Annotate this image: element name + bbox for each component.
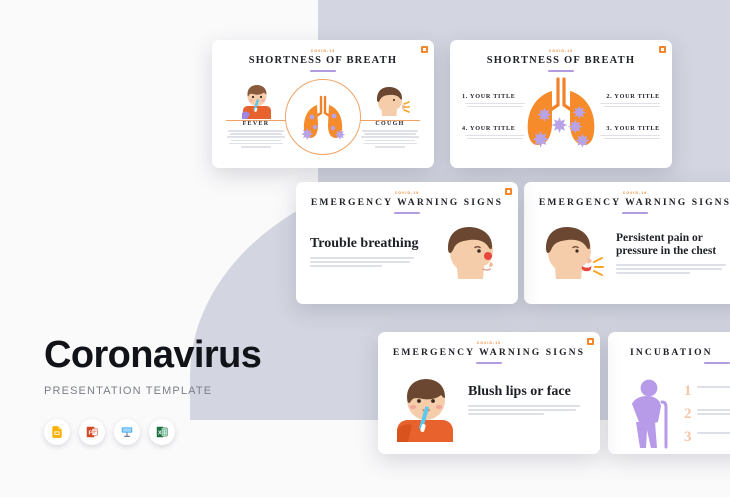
heading-underline [704,362,730,364]
point-3-body-text: Symptoms such as a cough, fever, and in … [660,141,661,142]
head-profile-coughing-illustration [538,224,604,291]
child-with-thermometer-illustration [392,376,464,447]
page-title: Coronavirus [44,336,261,376]
slide-body: Trouble breathing The disease causes res… [296,218,518,300]
slide-heading: INCUBATION [608,347,730,358]
list-item-text-value: People w [697,436,698,437]
slide-title: Persistent pain or pressure in the chest [616,232,730,259]
slide-eyebrow: COVID-19 [212,49,434,53]
point-1: 1. YOUR TITLE Symptoms such as a cough, … [462,93,528,109]
hero-block: Coronavirus PRESENTATION TEMPLATE Google… [44,336,261,445]
slide-heading: EMERGENCY WARNING SIGNS [524,197,730,208]
point-2: 2. YOUR TITLE Symptoms such as a cough, … [594,93,660,109]
slide-thumbnail-shortness-of-breath-two-column[interactable]: COVID-19 SHORTNESS OF BREATH [212,40,434,168]
slide-paragraph: The disease causes respiratory illness w… [616,264,730,274]
slide-eyebrow: COVID-19 [378,341,600,345]
slide-body: 1. YOUR TITLE Symptoms such as a cough, … [450,75,672,163]
point-3: 3. YOUR TITLE Symptoms such as a cough, … [594,125,660,141]
head-profile-coughing-illustration [372,85,410,124]
list-item-text-value: People o [697,390,698,391]
point-4-body-text: Symptoms such as a cough, fever, and in … [462,141,463,142]
slide-title: Blush lips or face [468,384,586,400]
lungs-in-circle-illustration [285,79,361,155]
slide-corner-badge-icon [505,188,512,195]
format-badge-list: Google Slides P PowerPoint [44,419,261,445]
slide-paragraph-text: The disease causes respiratory illness w… [468,417,469,418]
slide-corner-badge-icon [421,46,428,53]
elderly-person-with-cane-illustration [622,378,680,454]
keynote-icon[interactable]: Keynote [114,419,140,445]
slide-corner-badge-icon [659,46,666,53]
list-item-text: People w [697,430,730,436]
slide-eyebrow: COVID-19 [608,341,730,345]
list-item-number: 1 [684,384,692,399]
point-1-title: 1. YOUR TITLE [462,93,528,100]
heading-underline [622,212,648,214]
slide-body: Persistent pain or pressure in the chest… [524,218,730,300]
list-item: 3 People w [684,430,730,445]
heading-underline [548,70,574,72]
list-item-text: People w or long-t [697,407,730,418]
slide-paragraph: The disease causes respiratory illness w… [468,405,586,415]
slide-paragraph-text: The disease causes respiratory illness w… [310,269,311,270]
heading-underline [310,70,336,72]
point-2-body: Symptoms such as a cough, fever, and in … [594,103,660,108]
point-1-body: Symptoms such as a cough, fever, and in … [462,103,528,108]
point-1-body-text: Symptoms such as a cough, fever, and in … [462,109,463,110]
list-item-number: 2 [684,407,692,422]
column-cough: COUGH Symptoms such as a cough, fever, a… [358,83,422,149]
slide-body: FEVER Symptoms such as a cough, fever, a… [212,77,434,161]
heading-underline [476,362,502,364]
point-3-title: 3. YOUR TITLE [594,125,660,132]
column-body-fever: Symptoms such as a cough, fever, and in … [224,130,288,148]
list-item: 2 People w or long-t [684,407,730,422]
slide-heading: EMERGENCY WARNING SIGNS [378,347,600,358]
page-subtitle: PRESENTATION TEMPLATE [44,385,261,397]
column-body-text-cough: Symptoms such as a cough, fever, and in … [390,149,391,150]
point-4-title: 4. YOUR TITLE [462,125,528,132]
column-body-text-fever: Symptoms such as a cough, fever, and in … [256,149,257,150]
column-body-cough: Symptoms such as a cough, fever, and in … [358,130,422,148]
point-2-body-text: Symptoms such as a cough, fever, and in … [660,109,661,110]
slide-thumbnail-trouble-breathing[interactable]: COVID-19 EMERGENCY WARNING SIGNS Trouble… [296,182,518,304]
heading-underline [394,212,420,214]
slide-heading: SHORTNESS OF BREATH [212,55,434,66]
column-fever: FEVER Symptoms such as a cough, fever, a… [224,83,288,149]
head-profile-red-dot-illustration [438,224,502,291]
slide-eyebrow: COVID-19 [450,49,672,53]
child-with-thermometer-illustration [240,83,274,124]
lungs-with-virus-illustration [519,75,603,162]
slide-eyebrow: COVID-19 [524,191,730,195]
powerpoint-icon[interactable]: P PowerPoint [79,419,105,445]
point-3-body: Symptoms such as a cough, fever, and in … [594,135,660,140]
list-item-number: 3 [684,430,692,445]
slide-thumbnail-shortness-of-breath-four-point[interactable]: COVID-19 SHORTNESS OF BREATH [450,40,672,168]
slide-thumbnail-blush-lips-or-face[interactable]: COVID-19 EMERGENCY WARNING SIGNS [378,332,600,454]
slide-thumbnail-incubation[interactable]: COVID-19 INCUBATION 1 [608,332,730,454]
incubation-list: 1 People o 2 People w or long-t 3 [684,384,730,453]
slide-body: Blush lips or face The disease causes re… [378,368,600,450]
list-item-text: People o [697,384,730,390]
point-4-body: Symptoms such as a cough, fever, and in … [462,135,528,140]
slide-paragraph: The disease causes respiratory illness w… [310,257,422,267]
google-slides-icon[interactable]: Google Slides [44,419,70,445]
slide-heading: SHORTNESS OF BREATH [450,55,672,66]
slide-body: 1 People o 2 People w or long-t 3 [608,368,730,450]
slide-paragraph-text: The disease causes respiratory illness w… [616,276,617,277]
list-item-text-value: People w or long-t [697,418,698,419]
slide-corner-badge-icon [587,338,594,345]
point-4: 4. YOUR TITLE Symptoms such as a cough, … [462,125,528,141]
slide-eyebrow: COVID-19 [296,191,518,195]
point-2-title: 2. YOUR TITLE [594,93,660,100]
preview-canvas: Coronavirus PRESENTATION TEMPLATE Google… [0,0,730,497]
excel-icon[interactable]: X Excel [149,419,175,445]
slide-thumbnail-persistent-chest-pain[interactable]: COVID-19 EMERGENCY WARNING SIGNS Pers [524,182,730,304]
slide-heading: EMERGENCY WARNING SIGNS [296,197,518,208]
list-item: 1 People o [684,384,730,399]
slide-title: Trouble breathing [310,236,422,252]
